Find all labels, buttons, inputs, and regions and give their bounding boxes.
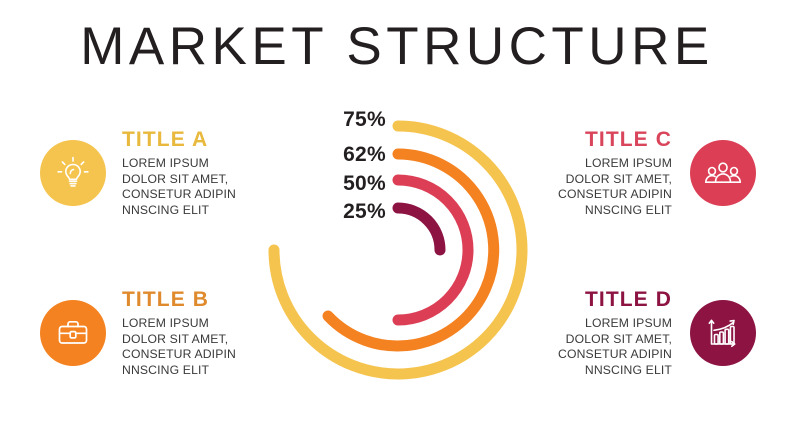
block-c-body: LOREM IPSUM DOLOR SIT AMET, CONSETUR ADI… (422, 156, 672, 218)
block-d-title: TITLE D (422, 288, 672, 312)
page-title: MARKET STRUCTURE (0, 16, 794, 78)
icon-circle-b[interactable] (40, 300, 106, 366)
icon-circle-c[interactable] (690, 140, 756, 206)
content-block-d: TITLE D LOREM IPSUM DOLOR SIT AMET, CONS… (422, 288, 672, 378)
lightbulb-icon (54, 154, 92, 192)
content-block-b: TITLE B LOREM IPSUM DOLOR SIT AMET, CONS… (122, 288, 372, 378)
icon-circle-d[interactable] (690, 300, 756, 366)
icon-circle-a[interactable] (40, 140, 106, 206)
content-block-c: TITLE C LOREM IPSUM DOLOR SIT AMET, CONS… (422, 128, 672, 218)
people-group-icon (703, 154, 743, 192)
block-a-body: LOREM IPSUM DOLOR SIT AMET, CONSETUR ADI… (122, 156, 372, 218)
briefcase-icon (54, 314, 92, 352)
block-b-title: TITLE B (122, 288, 372, 312)
infographic-canvas: MARKET STRUCTURE 75% 62% 50% 25% (0, 0, 794, 447)
block-d-body: LOREM IPSUM DOLOR SIT AMET, CONSETUR ADI… (422, 316, 672, 378)
block-b-body: LOREM IPSUM DOLOR SIT AMET, CONSETUR ADI… (122, 316, 372, 378)
bar-chart-growth-icon (704, 314, 742, 352)
content-block-a: TITLE A LOREM IPSUM DOLOR SIT AMET, CONS… (122, 128, 372, 218)
block-c-title: TITLE C (422, 128, 672, 152)
block-a-title: TITLE A (122, 128, 372, 152)
